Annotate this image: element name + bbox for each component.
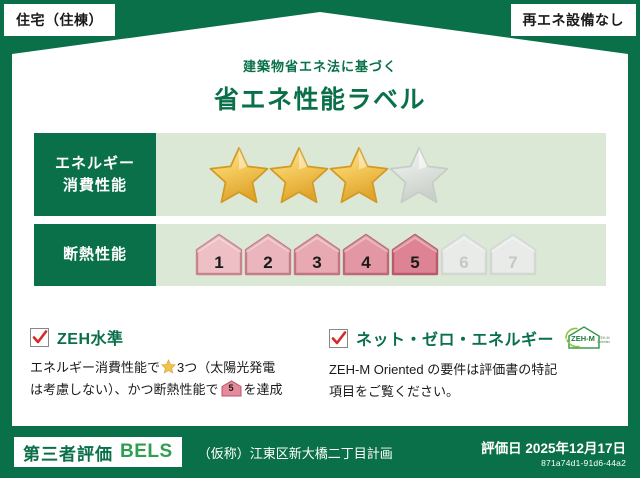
insulation-house-filled: 5 [390,232,440,278]
bels-badge: 第三者評価 BELS [14,437,182,467]
building-type-tag: 住宅（住棟） [4,4,115,36]
energy-label-line1: エネルギー [55,153,135,175]
energy-label-line2: 消費性能 [63,175,127,197]
star-filled-icon [208,145,270,205]
insulation-house-filled: 2 [243,232,293,278]
net-zero-energy-title: ネット・ゼロ・エネルギー [356,326,554,350]
svg-text:ZEH-M: ZEH-M [571,334,595,343]
header-subtitle: 建築物省エネ法に基づく [0,56,640,75]
insulation-levels-area: 1234567 [156,224,606,286]
page-title: 省エネ性能ラベル [0,80,640,116]
project-name: （仮称）江東区新大橋二丁目計画 [198,443,393,462]
svg-text:Oriented: Oriented [597,340,610,344]
bels-jp-label: 第三者評価 [23,440,113,465]
star-filled-icon [268,145,330,205]
insulation-house-empty: 6 [439,232,489,278]
net-zero-checkbox[interactable] [329,329,348,348]
inline-house-number: 5 [221,381,242,396]
zeh-desc-starcount: 3つ（太陽光発電 [177,360,275,375]
inline-house-icon: 5 [221,380,242,397]
evaluation-date: 評価日 2025年12月17日 [481,437,626,457]
label-header: 建築物省エネ法に基づく 省エネ性能ラベル [0,56,640,116]
bels-en-label: BELS [120,441,173,463]
net-zero-energy-description: ZEH-M Oriented の要件は評価書の特記 項目をご覧ください。 [329,359,610,404]
net-zero-energy-block: ネット・ゼロ・エネルギー ZEH-M ZEH-M Oriented ZEH-M … [321,325,610,404]
insulation-house-filled: 3 [292,232,342,278]
energy-performance-label: 住宅（住棟） 再エネ設備なし 建築物省エネ法に基づく 省エネ性能ラベル エネルギ… [0,0,640,478]
energy-performance-row: エネルギー 消費性能 [34,133,606,216]
zeh-checkbox[interactable] [30,328,49,347]
energy-performance-label: エネルギー 消費性能 [34,133,156,216]
star-filled-icon [328,145,390,205]
zeh-m-logo-icon: ZEH-M ZEH-M Oriented [564,325,610,351]
star-empty-icon [388,145,450,205]
net-zero-desc-line1: ZEH-M Oriented の要件は評価書の特記 [329,362,557,377]
zeh-standard-block: ZEH水準 エネルギー消費性能で 3つ（太陽光発電 は考慮しない）、かつ断熱性能… [30,325,305,404]
zeh-standard-title: ZEH水準 [57,325,124,349]
insulation-house-empty: 7 [488,232,538,278]
zeh-standard-description: エネルギー消費性能で 3つ（太陽光発電 は考慮しない）、かつ断熱性能で 5を達成 [30,357,305,402]
net-zero-energy-heading: ネット・ゼロ・エネルギー ZEH-M ZEH-M Oriented [329,325,610,351]
svg-text:ZEH-M: ZEH-M [598,336,609,340]
insulation-performance-label: 断熱性能 [34,224,156,286]
zeh-desc-part2: は考慮しない）、かつ断熱性能で [30,382,219,397]
insulation-house-filled: 4 [341,232,391,278]
inline-star-icon [161,359,176,374]
insulation-performance-row: 断熱性能 1234567 [34,224,606,286]
renewable-equipment-tag: 再エネ設備なし [511,4,637,36]
evaluation-info: 評価日 2025年12月17日 871a74d1-91d6-44a2 [481,437,626,468]
insulation-house-filled: 1 [194,232,244,278]
zeh-desc-part3: を達成 [244,382,283,397]
energy-stars-area [156,133,606,216]
ratings-section: エネルギー 消費性能 断熱性能 1234567 [34,133,606,286]
insulation-label-line1: 断熱性能 [63,244,127,266]
evaluation-id: 871a74d1-91d6-44a2 [481,458,626,468]
zeh-desc-part1: エネルギー消費性能で [30,360,160,375]
insulation-level-scale: 1234567 [194,232,537,278]
star-rating [208,145,448,205]
zeh-standard-heading: ZEH水準 [30,325,305,349]
footer-bar: 第三者評価 BELS （仮称）江東区新大橋二丁目計画 評価日 2025年12月1… [0,426,640,478]
criteria-section: ZEH水準 エネルギー消費性能で 3つ（太陽光発電 は考慮しない）、かつ断熱性能… [30,325,610,404]
net-zero-desc-line2: 項目をご覧ください。 [329,384,459,399]
